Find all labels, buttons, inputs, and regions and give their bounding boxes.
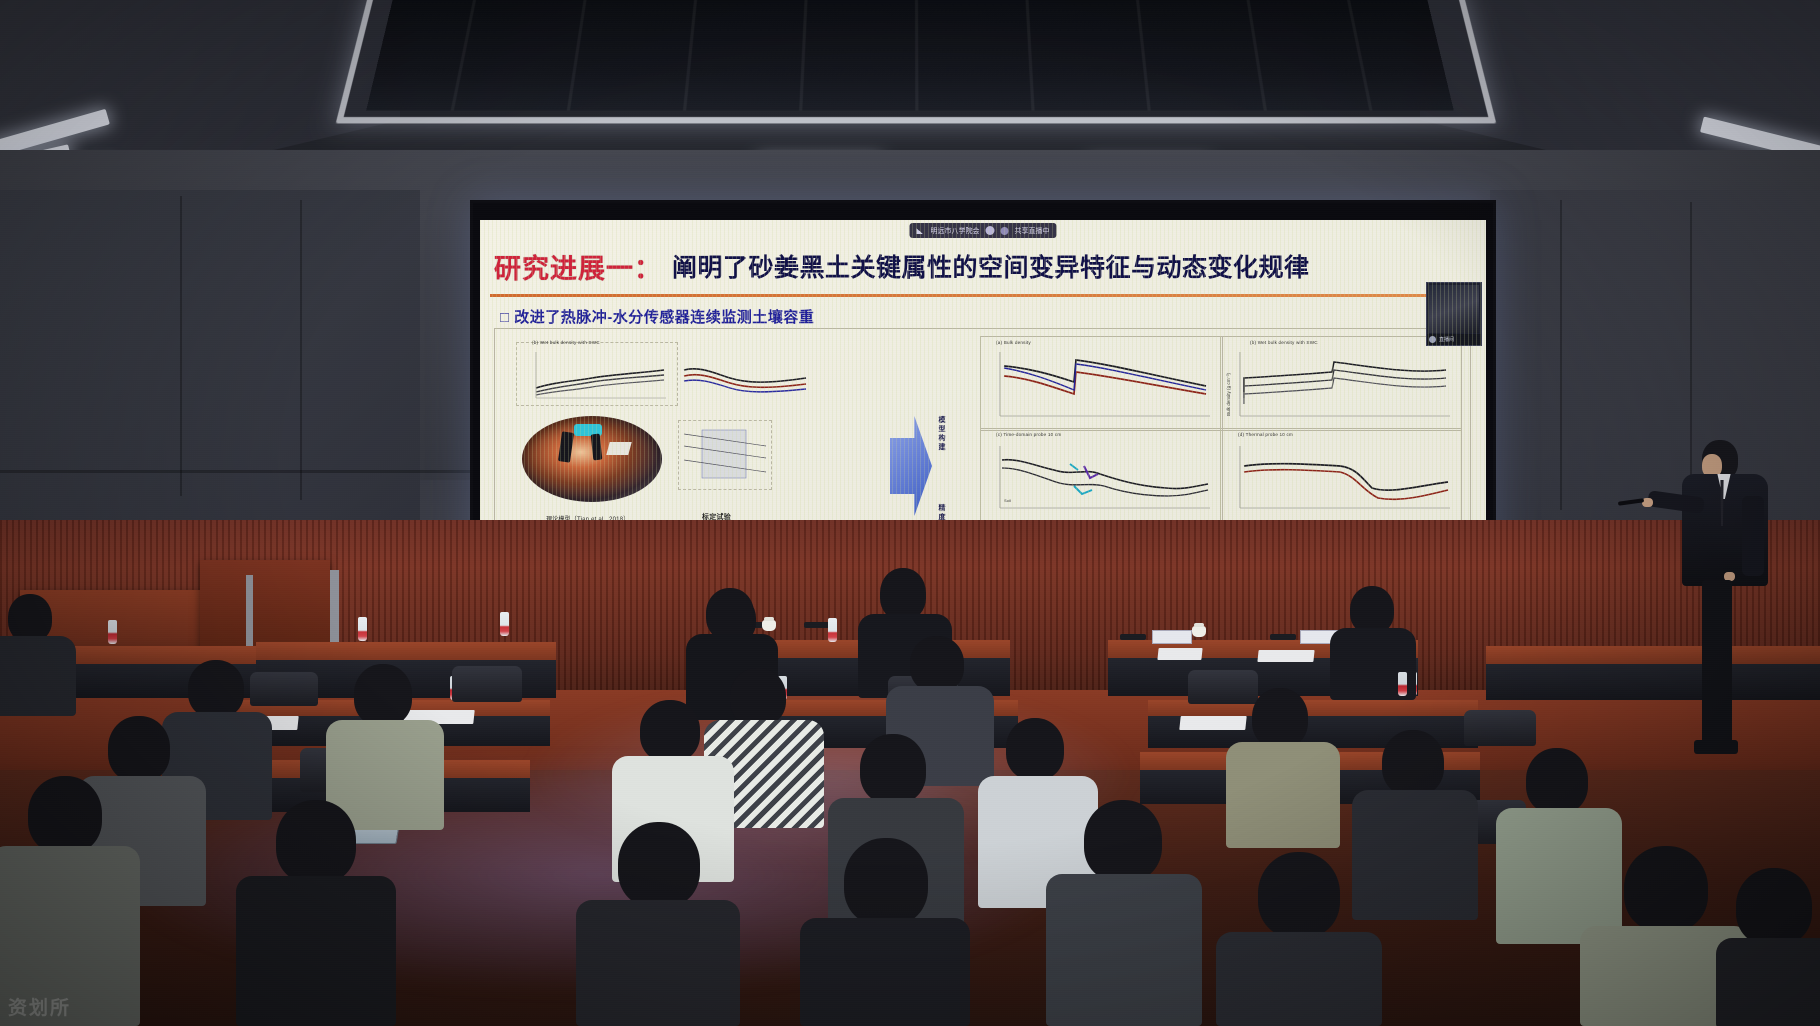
- audience-member: [0, 776, 140, 1026]
- water-bottle: [108, 620, 117, 644]
- sensor-probe: [558, 431, 574, 462]
- sensor-probe: [591, 434, 603, 461]
- head: [108, 716, 170, 782]
- torso: [1226, 742, 1340, 848]
- panelist-seated-left: [0, 594, 76, 714]
- audience-member: [1716, 868, 1820, 1026]
- desk-microphone: [1270, 634, 1296, 640]
- head: [276, 800, 356, 884]
- broadcast-icon: [1001, 227, 1009, 235]
- water-bottle: [1398, 672, 1407, 696]
- audience-member: [800, 838, 970, 1026]
- slide-title-prefix: 研究进展一：: [494, 247, 662, 286]
- head: [1526, 748, 1588, 814]
- grid-divider-h1: [980, 428, 1462, 431]
- presenter: [1640, 440, 1820, 760]
- head: [640, 700, 700, 762]
- panel-a-label: (a) Bulk density: [996, 340, 1031, 345]
- paper-sheet: [1257, 650, 1314, 662]
- head: [1382, 730, 1444, 796]
- wall-seam: [300, 200, 302, 500]
- desk-microphone: [1120, 634, 1146, 640]
- livestream-status-bar: 明远市八学院会 共享直播中: [910, 223, 1057, 238]
- name-card: [1152, 630, 1192, 644]
- head: [188, 660, 244, 718]
- head: [1084, 800, 1162, 882]
- torso: [1216, 932, 1382, 1026]
- water-bottle: [828, 618, 837, 642]
- torso: [576, 900, 740, 1026]
- lectern-mic-stand: [330, 570, 339, 650]
- tea-cup: [1192, 626, 1206, 637]
- water-bottle: [358, 617, 367, 641]
- panel-c-legend: Soil: [1004, 498, 1011, 503]
- sensor-label-patch: [606, 442, 631, 455]
- head: [730, 668, 786, 726]
- audience-member: [1216, 852, 1382, 1026]
- middle-diagram: [678, 420, 770, 488]
- user-avatar-icon: [1429, 336, 1436, 343]
- head: [706, 588, 754, 640]
- panel-b-chart: [1228, 348, 1454, 424]
- panel-d-chart: [1228, 444, 1454, 516]
- soil-sensor-photo: [522, 416, 662, 502]
- torso: [1716, 938, 1820, 1026]
- livestream-status-label: 共享直播中: [1015, 226, 1050, 236]
- head: [1350, 586, 1394, 634]
- legend-item-0: Soil: [1004, 498, 1011, 503]
- ceiling-cove-light: [336, 0, 1497, 123]
- head: [28, 776, 102, 854]
- panel-b-ylabel: Bulk density (g cm⁻³): [1226, 373, 1232, 416]
- pip-video-frame: [1429, 285, 1479, 333]
- head: [1736, 868, 1812, 946]
- pencil-icon: [986, 226, 995, 235]
- panel-b-label: (b) Wet bulk density with SWC: [1250, 340, 1318, 345]
- head: [354, 664, 412, 726]
- presenter-arm: [1742, 496, 1764, 576]
- panel-a-chart: [988, 348, 1214, 424]
- panel-d-label: (d) Thermal probe 10 cm: [1238, 432, 1293, 437]
- lecture-hall-screenshot: 明远市八学院会 共享直播中 研究进展一： 阐明了砂姜黑土关键属性的空间变异特征与…: [0, 0, 1820, 1026]
- panel-table-center: [256, 642, 556, 660]
- head: [1624, 846, 1708, 932]
- arrow-label-top: 模型构建: [936, 416, 946, 488]
- torso: [0, 636, 76, 716]
- audience-member: [236, 800, 396, 1026]
- water-bottle: [500, 612, 509, 636]
- slide-title-main: 阐明了砂姜黑土关键属性的空间变异特征与动态变化规律: [672, 248, 1310, 284]
- head: [8, 594, 52, 642]
- paper-sheet: [1157, 648, 1202, 660]
- wall-seam: [0, 470, 470, 473]
- head: [1252, 688, 1308, 748]
- head: [880, 568, 926, 620]
- audience-member: [1046, 800, 1202, 1026]
- chart-left-top-label: (b) Wet bulk density with SWC: [532, 340, 600, 345]
- head: [1258, 852, 1340, 938]
- livestream-pip-window[interactable]: 直播间: [1426, 282, 1482, 346]
- torso: [800, 918, 970, 1026]
- audience-member: [1226, 688, 1340, 848]
- panel-c-label: (c) Time‑domain probe 10 cm: [996, 432, 1061, 437]
- signal-bars-icon: [917, 227, 925, 234]
- presenter-leg: [1702, 580, 1732, 750]
- panel-c-chart: [988, 444, 1214, 516]
- head: [618, 822, 700, 908]
- pip-info-bar: 直播间: [1427, 334, 1481, 345]
- slide-subtitle: □ 改进了热脉冲‑水分传感器连续监测土壤容重: [500, 306, 814, 327]
- head: [1006, 718, 1064, 780]
- title-divider: [490, 294, 1478, 297]
- wall-seam: [180, 196, 182, 496]
- pip-label: 直播间: [1439, 336, 1454, 343]
- head: [860, 734, 926, 804]
- slide-title: 研究进展一： 阐明了砂姜黑土关键属性的空间变异特征与动态变化规律: [494, 244, 1476, 288]
- audience-member: [576, 822, 740, 1026]
- torso: [1046, 874, 1202, 1026]
- channel-watermark: 资划所: [8, 993, 71, 1020]
- chart-left-top2: [680, 348, 810, 410]
- wall-seam: [1560, 200, 1562, 510]
- chair: [452, 666, 522, 702]
- livestream-channel-label: 明远市八学院会: [931, 226, 980, 236]
- head: [844, 838, 928, 926]
- torso: [236, 876, 396, 1026]
- presenter-shoe: [1694, 740, 1738, 754]
- head: [910, 636, 964, 692]
- chart-left-top: [530, 348, 670, 402]
